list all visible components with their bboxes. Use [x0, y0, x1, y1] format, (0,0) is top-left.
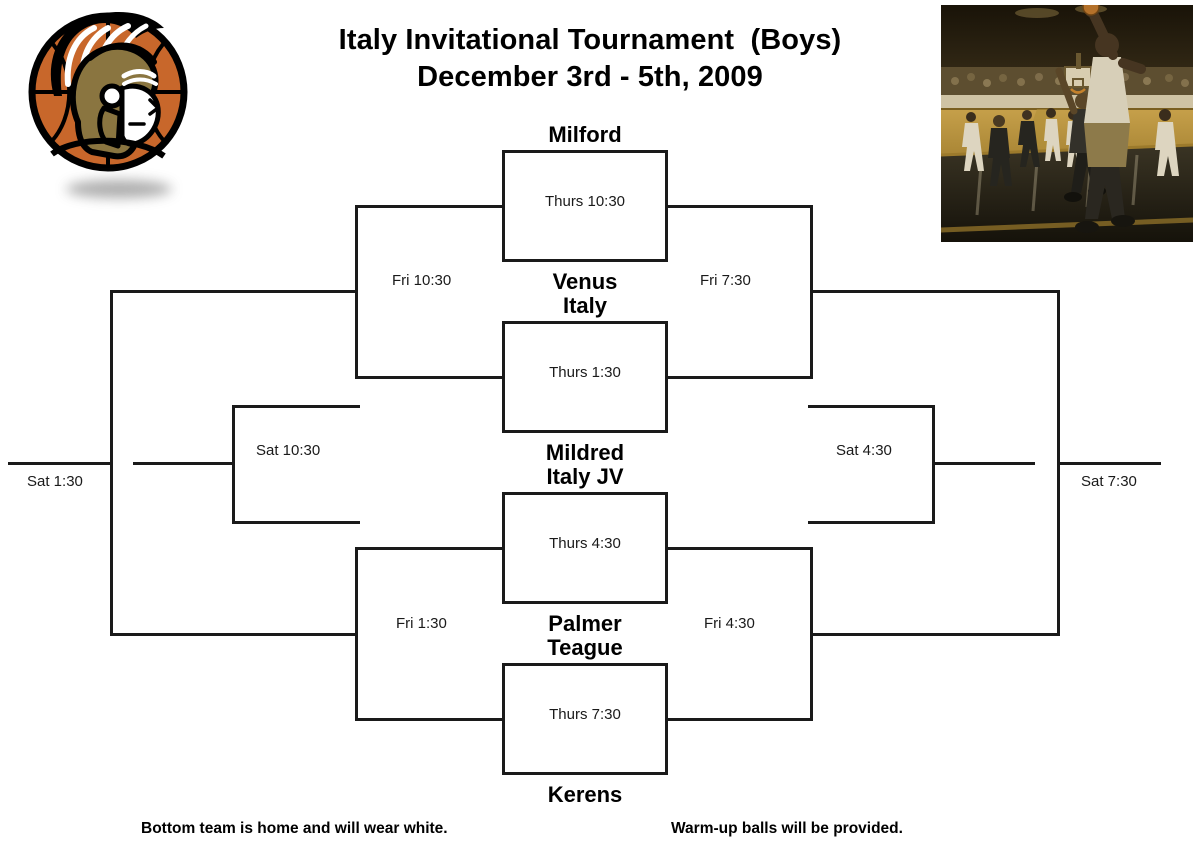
championship-inner-bottom: [808, 521, 935, 524]
game-4-time: Thurs 7:30: [505, 706, 665, 723]
basketball-action-photo: [938, 2, 1196, 245]
connector-game4-right: [665, 718, 813, 721]
championship-inner-top: [808, 405, 935, 408]
game-1-top-team: Milford: [465, 122, 705, 148]
round-label-sat-430: Sat 4:30: [836, 442, 892, 459]
connector-game1-right: [665, 205, 813, 208]
consolation-inner-top: [232, 405, 360, 408]
championship-outer-out: [1057, 462, 1161, 465]
consolation-outer-top: [110, 290, 235, 293]
round-label-fri-730: Fri 7:30: [700, 272, 751, 289]
consolation-outer-bottom: [110, 633, 235, 636]
championship-outer-bottom: [933, 633, 1060, 636]
game-2-time: Thurs 1:30: [505, 364, 665, 381]
game-3-time: Thurs 4:30: [505, 535, 665, 552]
team-logo: [18, 4, 198, 194]
game-4-bottom-team: Kerens: [465, 782, 705, 808]
consolation-upper-out: [232, 290, 358, 293]
game-1-bottom-team: Venus: [465, 269, 705, 295]
game-2-top-team: Italy: [465, 293, 705, 319]
game-box-3[interactable]: Italy JV Thurs 4:30 Palmer: [502, 492, 668, 604]
winners-upper-out: [810, 290, 936, 293]
footer-note-home-team: Bottom team is home and will wear white.: [141, 820, 448, 838]
championship-inner-out: [932, 462, 1035, 465]
round-label-sat-730: Sat 7:30: [1081, 473, 1137, 490]
connector-game2-left: [355, 376, 505, 379]
consolation-lower-out: [232, 633, 358, 636]
game-box-2[interactable]: Italy Thurs 1:30 Mildred: [502, 321, 668, 433]
game-3-top-team: Italy JV: [465, 464, 705, 490]
round-label-sat-1030: Sat 10:30: [256, 442, 320, 459]
connector-game1-left: [355, 205, 505, 208]
round-label-fri-430: Fri 4:30: [704, 615, 755, 632]
page-title: Italy Invitational Tournament (Boys) Dec…: [210, 22, 970, 96]
round-label-fri-1030: Fri 10:30: [392, 272, 451, 289]
connector-game3-right: [665, 547, 813, 550]
basketball-photo-image: [941, 5, 1193, 242]
game-box-4[interactable]: Teague Thurs 7:30 Kerens: [502, 663, 668, 775]
consolation-outer-out: [8, 462, 112, 465]
game-1-time: Thurs 10:30: [505, 193, 665, 210]
connector-game2-right: [665, 376, 813, 379]
connector-game4-left: [355, 718, 505, 721]
game-4-top-team: Teague: [465, 635, 705, 661]
title-line-2: December 3rd - 5th, 2009: [210, 59, 970, 96]
winners-lower-out: [810, 633, 936, 636]
consolation-inner-bottom: [232, 521, 360, 524]
logo-shadow-smudge: [66, 180, 172, 198]
connector-game3-left: [355, 547, 505, 550]
game-2-bottom-team: Mildred: [465, 440, 705, 466]
title-line-1: Italy Invitational Tournament (Boys): [210, 22, 970, 59]
round-label-fri-130: Fri 1:30: [396, 615, 447, 632]
championship-outer-top: [933, 290, 1060, 293]
footer-note-warmup-balls: Warm-up balls will be provided.: [671, 820, 903, 838]
trojan-basketball-logo-icon: [18, 4, 198, 194]
game-box-1[interactable]: Milford Thurs 10:30 Venus: [502, 150, 668, 262]
round-label-sat-130: Sat 1:30: [27, 473, 83, 490]
tournament-bracket-page: Italy Invitational Tournament (Boys) Dec…: [0, 0, 1200, 846]
consolation-inner-out: [133, 462, 235, 465]
game-3-bottom-team: Palmer: [465, 611, 705, 637]
